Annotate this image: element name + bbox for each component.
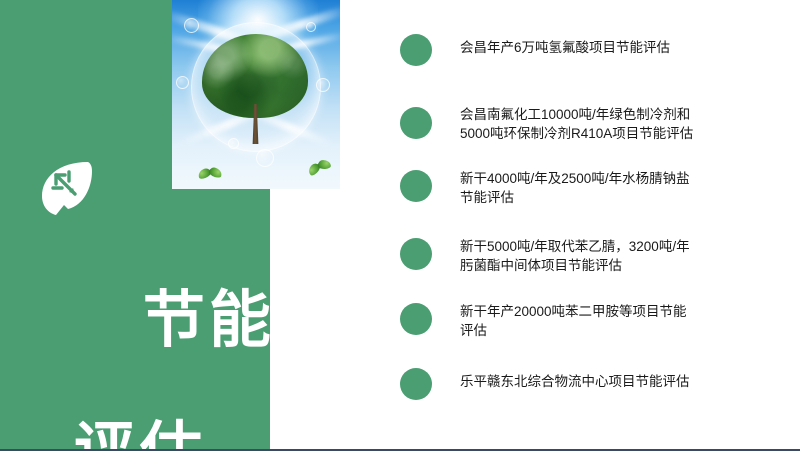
sprout-leaf bbox=[317, 160, 331, 170]
bubble-bokeh bbox=[256, 149, 274, 167]
seedling-sprout bbox=[306, 158, 336, 182]
bubble-bokeh bbox=[176, 76, 189, 89]
slide-canvas: 节能 评估 会昌年产6万吨氢氟酸项目节能评估会昌南氟化工10000吨/年绿色制冷… bbox=[0, 0, 800, 451]
list-item-label: 会昌南氟化工10000吨/年绿色制冷剂和 5000吨环保制冷剂R410A项目节能… bbox=[460, 105, 693, 143]
project-list: 会昌年产6万吨氢氟酸项目节能评估会昌南氟化工10000吨/年绿色制冷剂和 500… bbox=[400, 0, 800, 451]
list-item-label: 新干5000吨/年取代苯乙腈，3200吨/年 肟菌酯中间体项目节能评估 bbox=[460, 237, 690, 275]
page-title-line-1: 节能 bbox=[143, 286, 275, 355]
hero-image-tree-in-bubble bbox=[170, 0, 340, 189]
bullet-dot-icon bbox=[400, 303, 432, 335]
bubble-bokeh bbox=[316, 78, 330, 92]
bullet-dot-icon bbox=[400, 368, 432, 400]
bullet-dot-icon bbox=[400, 238, 432, 270]
bullet-dot-icon bbox=[400, 107, 432, 139]
sprout-leaf bbox=[208, 166, 223, 179]
list-item[interactable]: 新干4000吨/年及2500吨/年水杨腈钠盐 节能评估 bbox=[400, 170, 800, 207]
bullet-dot-icon bbox=[400, 170, 432, 202]
bubble-bokeh bbox=[228, 138, 239, 149]
list-item[interactable]: 乐平赣东北综合物流中心项目节能评估 bbox=[400, 368, 800, 400]
seedling-sprout bbox=[198, 167, 224, 185]
bubble-bokeh bbox=[306, 22, 316, 32]
bullet-dot-icon bbox=[400, 34, 432, 66]
page-title-line-2: 评估 bbox=[74, 419, 275, 451]
leaf-icon bbox=[38, 157, 96, 221]
list-item-label: 新干4000吨/年及2500吨/年水杨腈钠盐 节能评估 bbox=[460, 169, 690, 207]
list-item-label: 会昌年产6万吨氢氟酸项目节能评估 bbox=[460, 38, 670, 57]
list-item-label: 新干年产20000吨苯二甲胺等项目节能 评估 bbox=[460, 302, 687, 340]
bubble-bokeh bbox=[184, 18, 199, 33]
list-item[interactable]: 新干5000吨/年取代苯乙腈，3200吨/年 肟菌酯中间体项目节能评估 bbox=[400, 238, 800, 275]
list-item-label: 乐平赣东北综合物流中心项目节能评估 bbox=[460, 372, 690, 391]
list-item[interactable]: 新干年产20000吨苯二甲胺等项目节能 评估 bbox=[400, 303, 800, 340]
list-item[interactable]: 会昌年产6万吨氢氟酸项目节能评估 bbox=[400, 34, 800, 66]
list-item[interactable]: 会昌南氟化工10000吨/年绿色制冷剂和 5000吨环保制冷剂R410A项目节能… bbox=[400, 107, 800, 143]
page-title: 节能 评估 bbox=[58, 222, 275, 451]
